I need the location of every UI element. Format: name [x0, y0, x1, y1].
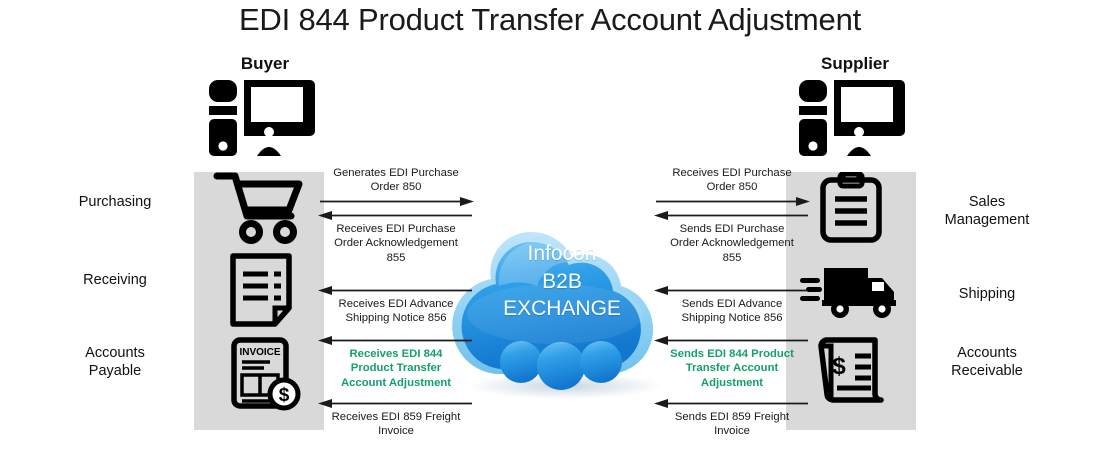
svg-text:$: $ [279, 385, 290, 406]
flow-caption: Receives EDI Purchase Order Acknowledgem… [316, 222, 476, 265]
svg-text:INVOICE: INVOICE [239, 347, 280, 358]
flow-left-3: Receives EDI Advance Shipping Notice 856 [316, 285, 476, 326]
flow-right-1: Receives EDI Purchase Order 850 [652, 166, 812, 207]
document-icon [228, 252, 294, 328]
clipboard-icon [818, 172, 884, 244]
desktop-computer-icon [797, 76, 907, 160]
arrow-left-icon [316, 335, 476, 346]
buyer-header: Buyer [190, 54, 340, 74]
flow-right-4: Sends EDI 844 Product Transfer Account A… [652, 335, 812, 390]
arrow-left-icon [652, 398, 812, 409]
flow-caption: Sends EDI Advance Shipping Notice 856 [652, 297, 812, 326]
flow-caption: Receives EDI 859 Freight Invoice [316, 410, 476, 439]
dept-label-accounts-receivable: Accounts Receivable [912, 344, 1062, 380]
desktop-computer-icon [207, 76, 317, 160]
dept-label-shipping: Shipping [912, 285, 1062, 303]
flow-left-5: Receives EDI 859 Freight Invoice [316, 398, 476, 439]
flow-right-3: Sends EDI Advance Shipping Notice 856 [652, 285, 812, 326]
flow-caption-highlighted: Receives EDI 844 Product Transfer Accoun… [316, 347, 476, 390]
arrow-left-icon [316, 210, 476, 221]
arrow-right-icon [316, 196, 476, 207]
flow-caption: Generates EDI Purchase Order 850 [316, 166, 476, 195]
arrow-right-icon [652, 196, 812, 207]
flow-left-2: Receives EDI Purchase Order Acknowledgem… [316, 210, 476, 265]
shopping-cart-icon [213, 168, 305, 244]
dept-label-sales-management: Sales Management [912, 193, 1062, 229]
dept-label-purchasing: Purchasing [40, 193, 190, 211]
flow-caption: Sends EDI 859 Freight Invoice [652, 410, 812, 439]
flow-left-4: Receives EDI 844 Product Transfer Accoun… [316, 335, 476, 390]
arrow-left-icon [652, 285, 812, 296]
flow-caption-highlighted: Sends EDI 844 Product Transfer Account A… [652, 347, 812, 390]
page-title: EDI 844 Product Transfer Account Adjustm… [0, 2, 1100, 38]
flow-caption: Sends EDI Purchase Order Acknowledgement… [652, 222, 812, 265]
svg-text:$: $ [832, 353, 846, 380]
arrow-left-icon [316, 285, 476, 296]
invoice-dollar-icon: INVOICE $ [230, 336, 302, 412]
flow-right-5: Sends EDI 859 Freight Invoice [652, 398, 812, 439]
diagram-canvas: EDI 844 Product Transfer Account Adjustm… [0, 0, 1100, 449]
flow-caption: Receives EDI Purchase Order 850 [652, 166, 812, 195]
dept-label-receiving: Receiving [40, 271, 190, 289]
flow-left-1: Generates EDI Purchase Order 850 [316, 166, 476, 207]
receipt-dollar-icon: $ [815, 334, 887, 412]
supplier-header: Supplier [780, 54, 930, 74]
arrow-left-icon [652, 210, 812, 221]
delivery-truck-icon [798, 262, 902, 324]
dept-label-accounts-payable: Accounts Payable [40, 344, 190, 380]
flow-right-2: Sends EDI Purchase Order Acknowledgement… [652, 210, 812, 265]
flow-caption: Receives EDI Advance Shipping Notice 856 [316, 297, 476, 326]
arrow-left-icon [316, 398, 476, 409]
arrow-left-icon [652, 335, 812, 346]
